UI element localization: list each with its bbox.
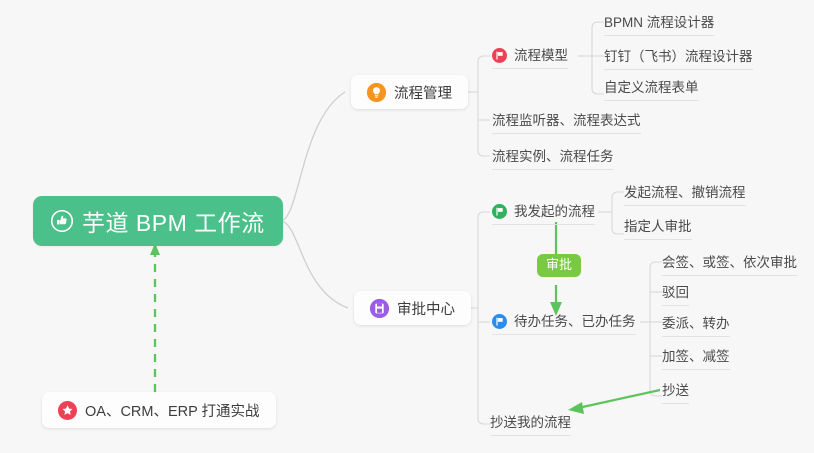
- branch-label: 审批中心: [397, 298, 455, 319]
- root-node[interactable]: 芋道 BPM 工作流: [33, 196, 283, 246]
- leaf-label: 流程实例、流程任务: [492, 149, 614, 164]
- node-label: 我发起的流程: [514, 200, 595, 220]
- node-label: 待办任务、已办任务: [514, 310, 636, 330]
- root-label: 芋道 BPM 工作流: [82, 204, 265, 238]
- clipboard-icon: [370, 299, 389, 318]
- leaf-label: 驳回: [662, 285, 689, 300]
- leaf-label: 抄送我的流程: [490, 415, 571, 430]
- node-my-initiated[interactable]: 我发起的流程: [492, 200, 595, 225]
- node-oa-crm-erp[interactable]: OA、CRM、ERP 打通实战: [42, 392, 276, 428]
- leaf-label: 会签、或签、依次审批: [662, 255, 797, 270]
- leaf-custom-form[interactable]: 自定义流程表单: [604, 76, 699, 101]
- leaf-process-instance[interactable]: 流程实例、流程任务: [492, 145, 614, 170]
- flag-green-icon: [492, 204, 507, 219]
- leaf-label: 流程监听器、流程表达式: [492, 113, 641, 128]
- leaf-label: 钉钉（飞书）流程设计器: [604, 49, 753, 64]
- branch-approval-center[interactable]: 审批中心: [354, 291, 471, 325]
- leaf-label: 加签、减签: [662, 349, 730, 364]
- thumbs-up-icon: [51, 210, 73, 232]
- branch-label: 流程管理: [394, 82, 452, 103]
- leaf-label: 自定义流程表单: [604, 80, 699, 95]
- lightbulb-icon: [367, 83, 386, 102]
- flag-blue-icon: [492, 314, 507, 329]
- leaf-bpmn-designer[interactable]: BPMN 流程设计器: [604, 11, 714, 36]
- mindmap-canvas: 芋道 BPM 工作流 流程管理 流程模型 BPMN 流程设计器 钉钉（飞书: [0, 0, 814, 453]
- star-icon: [58, 401, 77, 420]
- approve-badge: 审批: [537, 254, 581, 277]
- leaf-label: 发起流程、撤销流程: [624, 185, 746, 200]
- leaf-label: BPMN 流程设计器: [604, 15, 714, 30]
- leaf-cc[interactable]: 抄送: [662, 379, 689, 404]
- leaf-cc-to-me[interactable]: 抄送我的流程: [490, 411, 571, 436]
- node-label: OA、CRM、ERP 打通实战: [85, 400, 260, 421]
- leaf-dingtalk-designer[interactable]: 钉钉（飞书）流程设计器: [604, 45, 753, 70]
- leaf-start-cancel-process[interactable]: 发起流程、撤销流程: [624, 181, 746, 206]
- leaf-label: 抄送: [662, 383, 689, 398]
- leaf-delegate-transfer[interactable]: 委派、转办: [662, 312, 730, 337]
- branch-process-management[interactable]: 流程管理: [351, 75, 468, 109]
- leaf-label: 委派、转办: [662, 316, 730, 331]
- flag-red-icon: [492, 48, 507, 63]
- node-process-model[interactable]: 流程模型: [492, 44, 568, 69]
- leaf-label: 指定人审批: [624, 219, 692, 234]
- leaf-reject[interactable]: 驳回: [662, 281, 689, 306]
- leaf-multi-sign[interactable]: 会签、或签、依次审批: [662, 251, 797, 276]
- node-todo-done-tasks[interactable]: 待办任务、已办任务: [492, 310, 636, 335]
- leaf-assignee-approval[interactable]: 指定人审批: [624, 215, 692, 240]
- leaf-process-listener[interactable]: 流程监听器、流程表达式: [492, 109, 641, 134]
- leaf-add-remove-sign[interactable]: 加签、减签: [662, 345, 730, 370]
- node-label: 流程模型: [514, 44, 568, 64]
